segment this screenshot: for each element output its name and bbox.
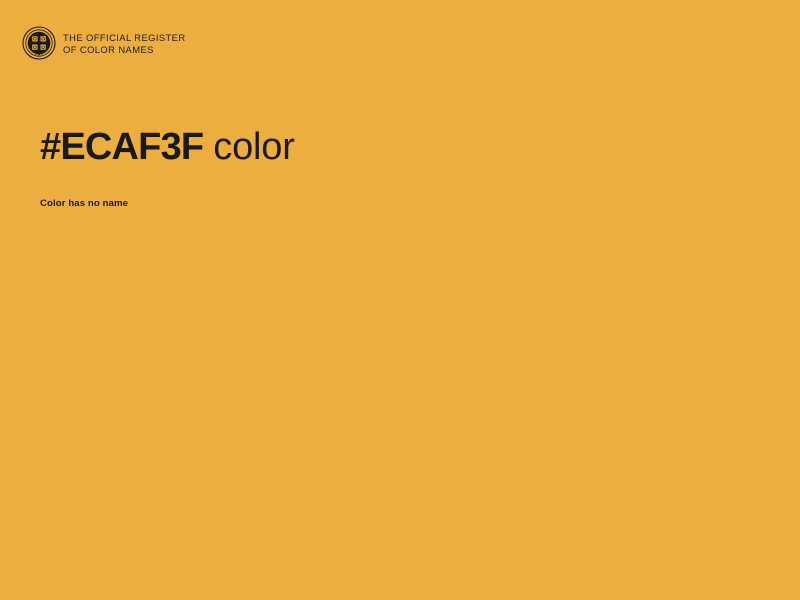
official-register-seal-icon <box>22 26 56 60</box>
color-swatch-field <box>0 236 800 600</box>
color-info-block: #ECAF3F color Color has no name <box>40 124 760 170</box>
color-name-status: Color has no name <box>40 198 128 209</box>
page-title: #ECAF3F color <box>40 124 760 170</box>
color-hex-value: #ECAF3F <box>40 126 203 168</box>
page-title-suffix: color <box>213 126 294 168</box>
brand-wordmark: THE OFFICIAL REGISTER OF COLOR NAMES <box>63 31 186 55</box>
brand-header[interactable]: THE OFFICIAL REGISTER OF COLOR NAMES <box>22 26 186 60</box>
brand-wordmark-line-1: THE OFFICIAL REGISTER <box>63 32 186 44</box>
color-detail-page: THE OFFICIAL REGISTER OF COLOR NAMES #EC… <box>0 0 800 600</box>
brand-wordmark-line-2: OF COLOR NAMES <box>63 44 186 56</box>
